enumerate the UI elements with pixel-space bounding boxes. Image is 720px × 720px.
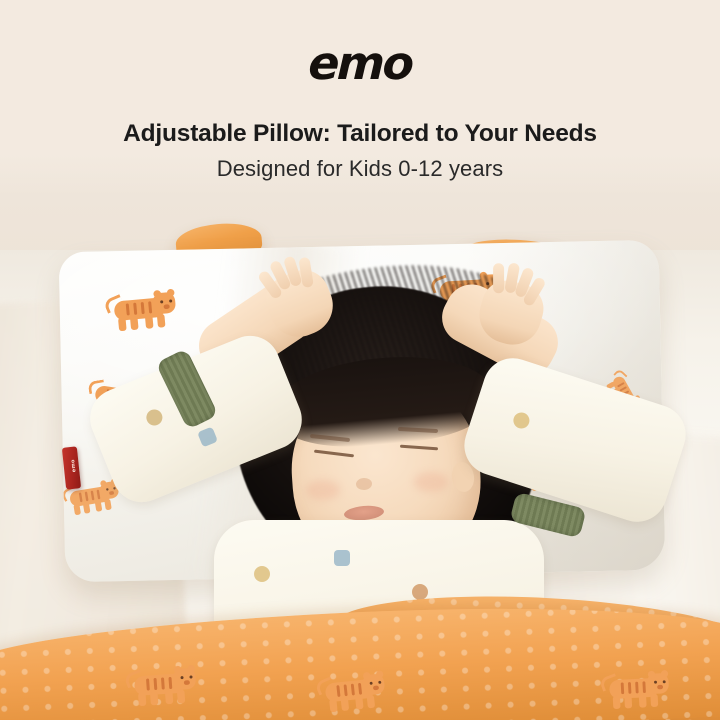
- poster-header: emo Adjustable Pillow: Tailored to Your …: [0, 0, 720, 196]
- page-subtitle: Designed for Kids 0-12 years: [0, 156, 720, 182]
- brand-logo: emo: [0, 40, 720, 86]
- brand-tag-label: emo: [69, 446, 79, 486]
- tiger-motif: [127, 663, 199, 707]
- page-title: Adjustable Pillow: Tailored to Your Need…: [0, 120, 720, 148]
- tiger-motif: [318, 669, 388, 713]
- tiger-motif: [107, 287, 179, 332]
- product-poster: emo: [0, 0, 720, 720]
- child-cheek: [414, 472, 448, 492]
- tiger-motif: [603, 668, 672, 709]
- child-cheek: [306, 480, 340, 500]
